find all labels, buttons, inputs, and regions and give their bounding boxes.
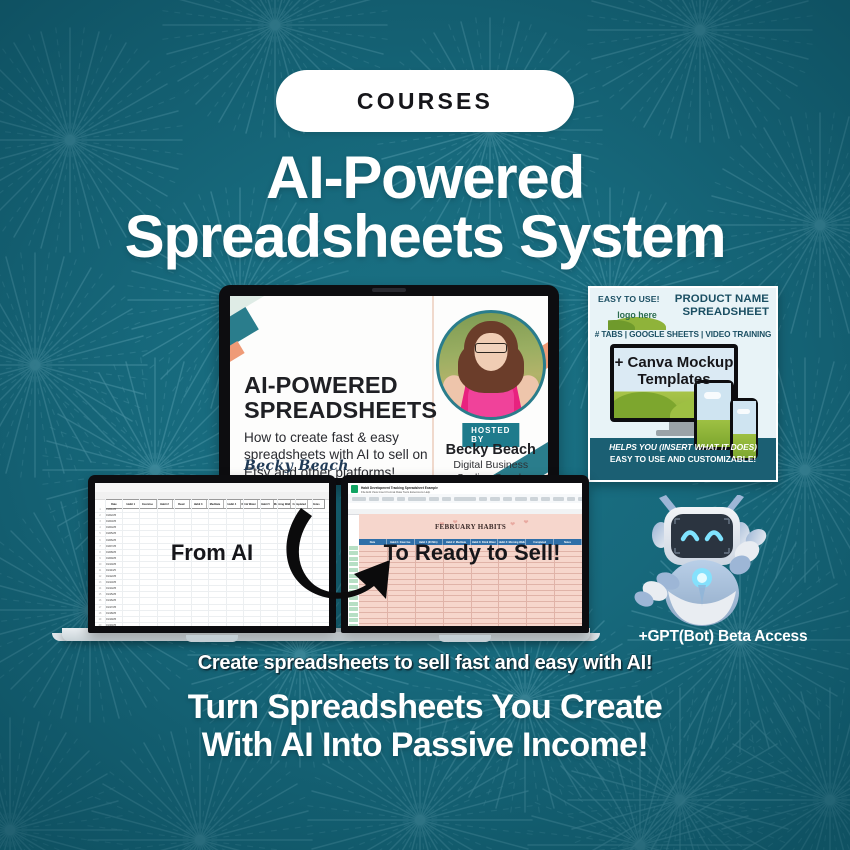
row-number: 18 [95, 611, 105, 616]
mockup-footer-line1: HELPS YOU (INSERT WHAT IT DOES) [590, 442, 776, 452]
gpt-bot-label: +GPT(Bot) Beta Access [596, 628, 850, 646]
mockup-screen-text: + Canva Mockup Templates [610, 354, 738, 389]
row-number: 2 [95, 513, 105, 518]
row-date-cell: 01/01/25 [106, 507, 130, 512]
after-laptop-trackpad [439, 635, 491, 642]
headline-footer-line2: With AI Into Passive Income! [202, 726, 648, 764]
row-number: 5 [95, 531, 105, 536]
host-role-line1: Digital Business [434, 459, 548, 472]
mockup-screen-text-line2: Templates [610, 371, 738, 388]
mockup-card-top: EASY TO USE! logo here PRODUCT NAME SPRE… [590, 288, 776, 438]
tagline: Create spreadsheets to sell fast and eas… [0, 652, 850, 675]
slide-signature: Becky Beach [244, 458, 349, 474]
row-date-cell: 01/11/25 [106, 568, 130, 573]
slide-stripe-peach-2 [230, 341, 245, 420]
mockup-easy-label: EASY TO USE! [598, 294, 660, 304]
row-date-cell: 01/12/25 [106, 574, 130, 579]
row-date-cell: 01/15/25 [106, 592, 130, 597]
tablet-cloud [704, 392, 721, 399]
mockup-features-line: # TABS | GOOGLE SHEETS | VIDEO TRAINING [590, 330, 776, 339]
row-date-cell: 01/17/25 [106, 605, 130, 610]
courses-badge-label: COURSES [357, 88, 493, 115]
toolbar-button[interactable] [454, 497, 476, 501]
row-number: 17 [95, 605, 105, 610]
slide-title-line2: SPREADSHEETS [244, 399, 432, 423]
slide-stripe-mint [230, 296, 444, 358]
row-date-cell: 01/02/25 [106, 513, 130, 518]
row-date-cell: 01/13/25 [106, 580, 130, 585]
row-date-cell: 01/16/25 [106, 598, 130, 603]
row-number: 15 [95, 592, 105, 597]
row-date-cell: 01/18/25 [106, 611, 130, 616]
toolbar-button[interactable] [578, 497, 582, 501]
course-slide: HOSTED BY Becky Beach Digital Business S… [230, 296, 548, 478]
toolbar-button[interactable] [503, 497, 512, 501]
mockup-logo-placeholder: logo here [608, 308, 666, 330]
slide-host-panel: HOSTED BY Becky Beach Digital Business S… [432, 296, 548, 478]
toolbar-button[interactable] [553, 497, 564, 501]
avatar-glasses [475, 343, 507, 353]
row-date-cell: 01/05/25 [106, 531, 130, 536]
headline-footer-line1: Turn Spreadsheets You Create [188, 688, 662, 726]
row-date-cell: 01/19/25 [106, 617, 130, 622]
toolbar-button[interactable] [429, 497, 439, 501]
host-avatar [436, 310, 546, 420]
mockup-screen-text-line1: + Canva Mockup [610, 354, 738, 371]
poster-canvas: COURSES AI-Powered Spreadsheets System [0, 0, 850, 850]
page-title-line1: AI-Powered [266, 144, 584, 211]
row-date-cell: 01/04/25 [106, 525, 130, 530]
row-date-cell: 01/14/25 [106, 586, 130, 591]
row-number: 12 [95, 574, 105, 579]
row-number: 19 [95, 617, 105, 622]
laptop-camera-notch [372, 288, 406, 292]
row-number: 13 [95, 580, 105, 585]
row-number: 11 [95, 568, 105, 573]
row-number: 16 [95, 598, 105, 603]
course-preview-laptop: HOSTED BY Becky Beach Digital Business S… [219, 285, 559, 485]
slide-stripe-teal-1 [230, 296, 460, 327]
row-number: 1 [95, 507, 105, 512]
heart-icon-right2: ❤ [523, 519, 528, 526]
headline-footer: Turn Spreadsheets You Create With AI Int… [0, 688, 850, 764]
mockup-tablet [694, 380, 734, 450]
row-number: 20 [95, 623, 105, 626]
toolbar-button[interactable] [530, 497, 538, 501]
toolbar-button[interactable] [479, 497, 487, 501]
phone-cloud [737, 409, 750, 414]
heart-icon-right: ❤ [510, 521, 515, 528]
toolbar-button[interactable] [515, 497, 527, 501]
mockup-product-name: PRODUCT NAME SPREADSHEET [675, 293, 769, 320]
mockup-product-name-line1: PRODUCT NAME [675, 293, 769, 306]
slide-title-line1: AI-POWERED [244, 374, 432, 398]
slide-stripe-peach-1 [230, 296, 454, 313]
sheets-doc-title: Habit Development Tracking Spreadsheet E… [361, 486, 438, 490]
canva-mockup-card: EASY TO USE! logo here PRODUCT NAME SPRE… [588, 286, 778, 482]
courses-badge[interactable]: COURSES [276, 70, 574, 132]
row-number: 3 [95, 519, 105, 524]
row-number: 14 [95, 586, 105, 591]
after-label: To Ready to Sell! [352, 540, 592, 566]
before-laptop-trackpad [186, 635, 238, 642]
toolbar-button[interactable] [490, 497, 500, 501]
page-title: AI-Powered Spreadsheets System [0, 148, 850, 267]
mockup-tablet-screen [697, 383, 731, 447]
laptop-screen: HOSTED BY Becky Beach Digital Business S… [230, 296, 548, 478]
google-sheets-icon [351, 485, 358, 493]
row-date-cell: 01/03/25 [106, 519, 130, 524]
row-date-cell: 01/20/25 [106, 623, 130, 626]
toolbar-button[interactable] [567, 497, 575, 501]
mockup-logo-text: logo here [608, 310, 666, 320]
page-title-line2: Spreadsheets System [0, 207, 850, 266]
gpt-bot-robot-icon [628, 495, 796, 630]
toolbar-button[interactable] [541, 497, 550, 501]
mockup-footer-line2: EASY TO USE AND CUSTOMIZABLE! [590, 454, 776, 464]
host-name: Becky Beach [434, 442, 548, 458]
toolbar-button[interactable] [442, 497, 451, 501]
row-number: 4 [95, 525, 105, 530]
mockup-product-name-line2: SPREADSHEET [675, 306, 769, 319]
